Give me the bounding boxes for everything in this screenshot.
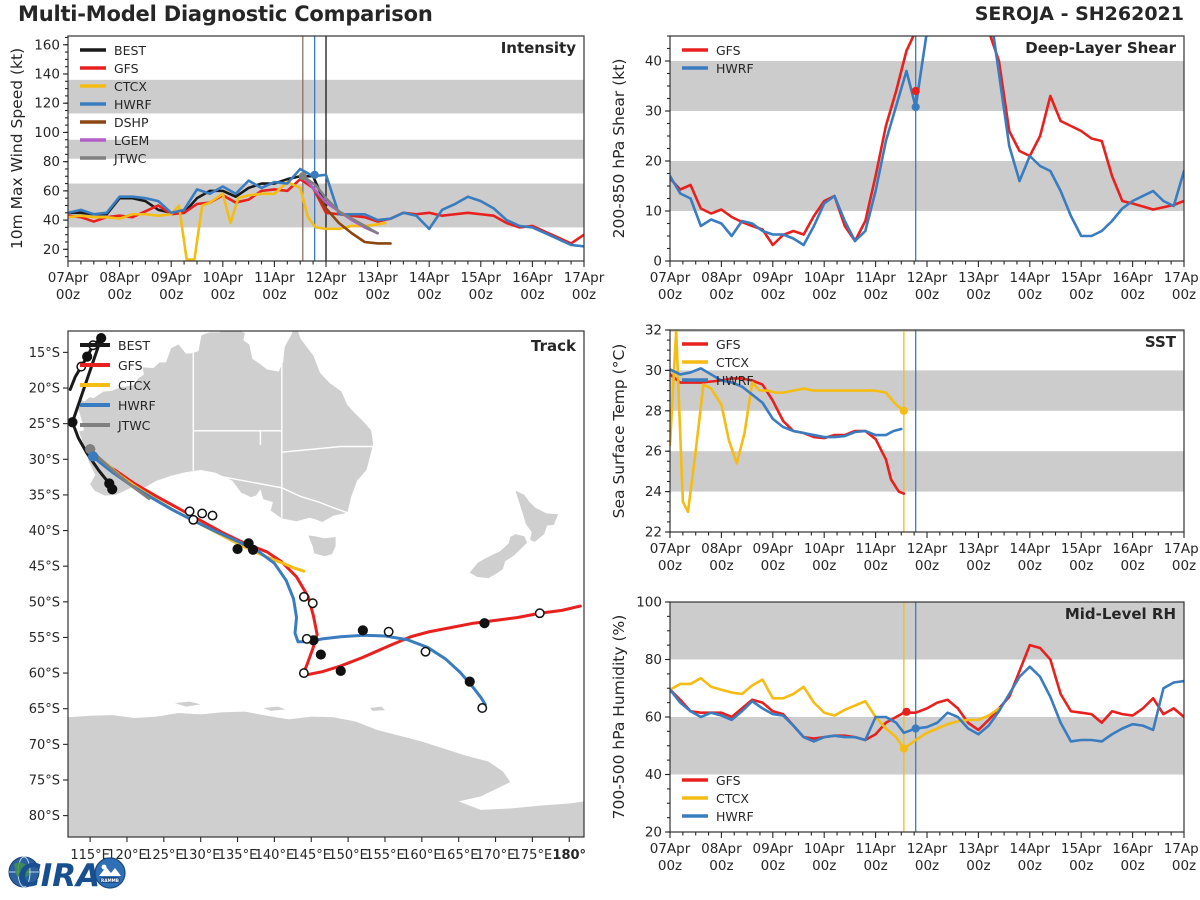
svg-text:00z: 00z [262,287,286,303]
svg-text:135°E: 135°E [218,848,258,863]
panel-title: SST [1145,333,1177,351]
legend-label-hwrf: HWRF [716,61,754,76]
svg-text:00z: 00z [966,558,990,574]
svg-text:45°S: 45°S [29,560,60,575]
svg-text:00z: 00z [915,558,939,574]
svg-text:00z: 00z [1018,558,1042,574]
panel-title: Mid-Level RH [1065,605,1176,623]
svg-text:75°S: 75°S [29,773,60,788]
svg-text:80: 80 [43,154,60,170]
svg-text:00z: 00z [1069,858,1093,874]
svg-text:60: 60 [43,183,60,199]
svg-text:120: 120 [34,96,60,112]
svg-text:28: 28 [645,403,662,419]
svg-text:09Apr: 09Apr [151,270,192,286]
svg-text:07Apr: 07Apr [650,270,691,286]
svg-text:140: 140 [34,66,60,82]
svg-text:00z: 00z [966,858,990,874]
legend-label-hwrf: HWRF [716,373,754,388]
panel-title: Track [531,337,577,355]
rammb-wordmark: RAMMB [101,878,119,883]
svg-text:14Apr: 14Apr [1010,270,1051,286]
legend-label-lgem: LGEM [114,133,149,148]
svg-text:00z: 00z [107,287,131,303]
legend-label-dshp: DSHP [114,115,149,130]
svg-text:165°E: 165°E [439,848,479,863]
svg-text:15Apr: 15Apr [461,270,502,286]
svg-text:00z: 00z [1018,287,1042,303]
svg-text:13Apr: 13Apr [958,541,999,557]
legend-label-hwrf: HWRF [114,97,152,112]
diagnostic-dashboard: Multi-Model Diagnostic Comparison SEROJA… [0,0,1200,900]
svg-text:00z: 00z [1172,558,1196,574]
svg-text:07Apr: 07Apr [48,270,89,286]
svg-text:160°E: 160°E [402,848,442,863]
svg-text:30°S: 30°S [29,453,60,468]
svg-text:16Apr: 16Apr [1112,841,1153,857]
svg-text:40: 40 [645,767,662,783]
svg-text:Sea Surface Temp (°C): Sea Surface Temp (°C) [610,344,628,519]
svg-text:17Apr: 17Apr [1164,541,1200,557]
svg-text:00z: 00z [1018,858,1042,874]
svg-text:08Apr: 08Apr [99,270,140,286]
svg-text:00z: 00z [314,287,338,303]
legend-label-best: BEST [114,43,146,58]
svg-text:00z: 00z [761,558,785,574]
page-title: Multi-Model Diagnostic Comparison [18,2,433,26]
svg-text:175°E: 175°E [513,848,553,863]
svg-text:32: 32 [645,323,662,339]
svg-text:20: 20 [43,242,60,258]
legend-label-jtwc: JTWC [113,151,147,166]
svg-text:24: 24 [645,484,662,500]
svg-text:0: 0 [653,254,662,270]
svg-text:145°E: 145°E [291,848,331,863]
svg-text:15Apr: 15Apr [1061,541,1102,557]
svg-text:15Apr: 15Apr [1061,270,1102,286]
svg-text:00z: 00z [1120,287,1144,303]
legend-label-gfs: GFS [114,61,139,76]
svg-text:200-850 hPa Shear (kt): 200-850 hPa Shear (kt) [610,59,628,239]
legend-label-gfs: GFS [716,773,741,788]
svg-text:12Apr: 12Apr [907,270,948,286]
svg-text:00z: 00z [1120,858,1144,874]
svg-text:14Apr: 14Apr [1010,541,1051,557]
svg-text:00z: 00z [915,858,939,874]
legend-label-ctcx: CTCX [716,355,749,370]
svg-text:00z: 00z [159,287,183,303]
svg-text:65°S: 65°S [29,702,60,717]
svg-text:08Apr: 08Apr [701,841,742,857]
svg-text:11Apr: 11Apr [855,841,896,857]
panel-title: Deep-Layer Shear [1025,39,1176,57]
svg-text:00z: 00z [812,558,836,574]
svg-text:20: 20 [645,154,662,170]
legend-label-jtwc: JTWC [117,418,151,433]
svg-text:00z: 00z [966,287,990,303]
svg-text:155°E: 155°E [365,848,405,863]
legend-label-hwrf: HWRF [716,809,754,824]
svg-text:60: 60 [645,710,662,726]
svg-text:00z: 00z [1172,287,1196,303]
svg-text:30: 30 [645,104,662,120]
svg-text:10Apr: 10Apr [804,841,845,857]
svg-text:50°S: 50°S [29,595,60,610]
svg-text:12Apr: 12Apr [907,541,948,557]
svg-text:00z: 00z [1069,287,1093,303]
panel-mid-level-rh: 2040608010007Apr00z08Apr00z09Apr00z10Apr… [600,594,1200,894]
svg-text:08Apr: 08Apr [701,541,742,557]
panel-deep-layer-shear: 01020304007Apr00z08Apr00z09Apr00z10Apr00… [600,28,1200,323]
svg-text:00z: 00z [211,287,235,303]
svg-text:09Apr: 09Apr [753,841,794,857]
svg-text:00z: 00z [915,287,939,303]
svg-text:40°S: 40°S [29,524,60,539]
svg-text:00z: 00z [863,858,887,874]
svg-text:00z: 00z [709,558,733,574]
svg-text:160: 160 [34,37,60,53]
panel-title: Intensity [501,39,577,57]
svg-text:00z: 00z [658,287,682,303]
svg-text:16Apr: 16Apr [512,270,553,286]
svg-text:00z: 00z [56,287,80,303]
svg-text:08Apr: 08Apr [701,270,742,286]
svg-text:10m Max Wind Speed (kt): 10m Max Wind Speed (kt) [8,48,26,249]
svg-text:09Apr: 09Apr [753,270,794,286]
svg-text:00z: 00z [1069,558,1093,574]
svg-text:100: 100 [636,595,662,611]
svg-text:20°S: 20°S [29,382,60,397]
svg-text:00z: 00z [572,287,596,303]
svg-text:22: 22 [645,525,662,541]
svg-text:125°E: 125°E [144,848,184,863]
legend-label-best: BEST [118,338,150,353]
svg-text:10Apr: 10Apr [804,270,845,286]
svg-text:13Apr: 13Apr [958,841,999,857]
legend-label-gfs: GFS [118,358,143,373]
svg-text:11Apr: 11Apr [855,270,896,286]
svg-text:40: 40 [43,213,60,229]
svg-text:00z: 00z [658,558,682,574]
svg-text:07Apr: 07Apr [650,841,691,857]
legend-label-gfs: GFS [716,337,741,352]
svg-text:14Apr: 14Apr [1010,841,1051,857]
svg-text:00z: 00z [863,558,887,574]
svg-text:170°E: 170°E [476,848,516,863]
svg-text:35°S: 35°S [29,488,60,503]
svg-text:30: 30 [645,363,662,379]
svg-text:80: 80 [645,652,662,668]
svg-text:00z: 00z [658,858,682,874]
svg-text:70°S: 70°S [29,738,60,753]
svg-text:10: 10 [645,204,662,220]
svg-text:12Apr: 12Apr [306,270,347,286]
svg-text:55°S: 55°S [29,631,60,646]
svg-text:17Apr: 17Apr [1164,270,1200,286]
svg-text:150°E: 150°E [328,848,368,863]
svg-text:10Apr: 10Apr [804,541,845,557]
panel-sst: 22242628303207Apr00z08Apr00z09Apr00z10Ap… [600,322,1200,592]
cira-wordmark: CIRA [18,858,100,894]
svg-text:00z: 00z [709,287,733,303]
svg-text:00z: 00z [761,858,785,874]
svg-text:00z: 00z [469,287,493,303]
svg-text:00z: 00z [863,287,887,303]
svg-text:25°S: 25°S [29,417,60,432]
svg-text:40: 40 [645,54,662,70]
legend-label-ctcx: CTCX [118,378,151,393]
legend-label-gfs: GFS [716,43,741,58]
svg-text:00z: 00z [812,858,836,874]
svg-text:00z: 00z [520,287,544,303]
svg-text:100: 100 [34,125,60,141]
svg-text:13Apr: 13Apr [958,270,999,286]
svg-text:00z: 00z [709,858,733,874]
svg-text:80°S: 80°S [29,809,60,824]
svg-text:00z: 00z [417,287,441,303]
svg-text:12Apr: 12Apr [907,841,948,857]
svg-text:00z: 00z [1120,558,1144,574]
legend-label-ctcx: CTCX [114,79,147,94]
storm-id-title: SEROJA - SH262021 [975,3,1184,25]
legend-label-hwrf: HWRF [118,398,156,413]
svg-text:13Apr: 13Apr [357,270,398,286]
svg-text:130°E: 130°E [181,848,221,863]
legend-label-ctcx: CTCX [716,791,749,806]
svg-text:11Apr: 11Apr [254,270,295,286]
svg-text:00z: 00z [1172,858,1196,874]
svg-text:60°S: 60°S [29,667,60,682]
svg-text:16Apr: 16Apr [1112,541,1153,557]
svg-text:17Apr: 17Apr [564,270,605,286]
svg-text:14Apr: 14Apr [409,270,450,286]
panel-track: 15°S20°S25°S30°S35°S40°S45°S50°S55°S60°S… [0,325,600,885]
svg-text:15Apr: 15Apr [1061,841,1102,857]
svg-text:00z: 00z [365,287,389,303]
cira-logo[interactable]: CIRARAMMB [4,846,134,896]
svg-text:26: 26 [645,444,662,460]
svg-text:00z: 00z [812,287,836,303]
svg-text:16Apr: 16Apr [1112,270,1153,286]
svg-text:20: 20 [645,825,662,841]
svg-text:00z: 00z [761,287,785,303]
svg-text:140°E: 140°E [255,848,295,863]
svg-text:09Apr: 09Apr [753,541,794,557]
svg-text:15°S: 15°S [29,346,60,361]
svg-text:07Apr: 07Apr [650,541,691,557]
svg-text:11Apr: 11Apr [855,541,896,557]
svg-text:10Apr: 10Apr [203,270,244,286]
svg-text:700-500 hPa Humidity (%): 700-500 hPa Humidity (%) [610,615,628,820]
panel-intensity: 2040608010012014016007Apr00z08Apr00z09Ap… [0,28,600,323]
svg-text:17Apr: 17Apr [1164,841,1200,857]
svg-text:180°: 180° [552,848,586,863]
